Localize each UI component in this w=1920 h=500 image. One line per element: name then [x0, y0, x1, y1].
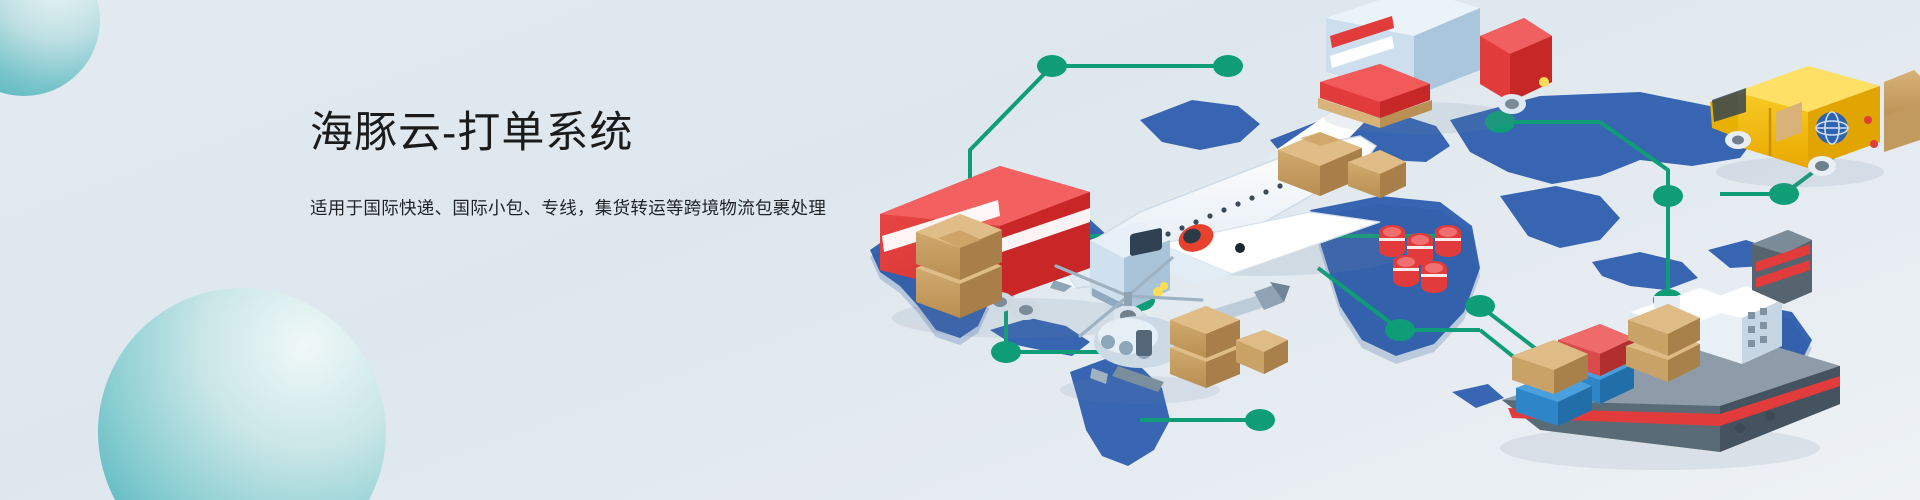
- hero-banner: 海豚云-打单系统 适用于国际快递、国际小包、专线，集货转运等跨境物流包裹处理: [0, 0, 1920, 500]
- decorative-circle-bottom-left: [98, 288, 386, 500]
- semi-truck-icon: [880, 166, 1170, 338]
- logistics-illustration: [840, 0, 1920, 500]
- cardboard-boxes-left: [916, 214, 1002, 318]
- page-title: 海豚云-打单系统: [310, 108, 826, 159]
- page-subtitle: 适用于国际快递、国际小包、专线，集货转运等跨境物流包裹处理: [310, 195, 826, 221]
- delivery-van-icon: [1710, 66, 1920, 187]
- cardboard-boxes-asia: [1170, 306, 1288, 388]
- hero-text-block: 海豚云-打单系统 适用于国际快递、国际小包、专线，集货转运等跨境物流包裹处理: [310, 108, 826, 221]
- decorative-circle-top-left: [0, 0, 100, 96]
